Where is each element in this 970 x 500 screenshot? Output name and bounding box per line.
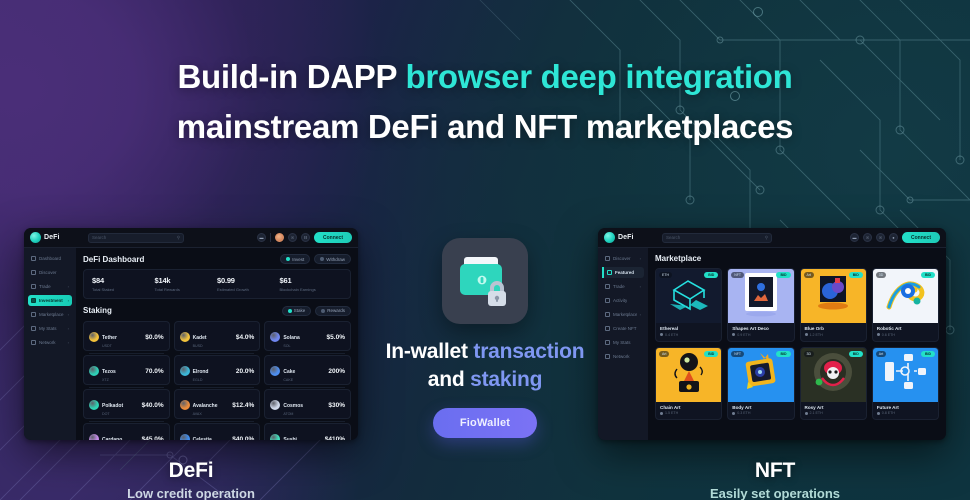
token-symbol: CAKE bbox=[283, 378, 295, 383]
nft-price-value: 2.1 ETH bbox=[810, 411, 823, 415]
center-headline: In-wallet transaction and staking bbox=[360, 338, 610, 394]
nft-title: Body Art bbox=[732, 405, 789, 410]
stat-label: Blockchain Earnings bbox=[280, 287, 343, 292]
defi-topbar-actions: ▬ ☉ ☷ Connect bbox=[257, 232, 352, 243]
nft-info: Ethereal0.4 ETH bbox=[656, 323, 721, 341]
nft-art-glyph bbox=[882, 352, 928, 397]
defi-search-input[interactable]: Search ⚲ bbox=[88, 233, 184, 243]
nft-price-value: 0.4 ETH bbox=[665, 333, 678, 337]
center-text-accent-2: staking bbox=[470, 368, 542, 391]
stat-card: $61Blockchain Earnings bbox=[280, 276, 343, 292]
defi-sidebar-item-dashboard[interactable]: Dashboard bbox=[28, 253, 72, 264]
nft-app-screenshot: DeFi Search ⚲ ▬ ☉ ☉ ● Connect Discover›F… bbox=[598, 228, 946, 440]
nft-bid-badge[interactable]: BID bbox=[849, 351, 863, 357]
token-symbol: EGLD bbox=[193, 378, 209, 383]
staking-card[interactable]: PolkadotDOT$40.0%$4 Staked$5 Rewards7d, … bbox=[83, 389, 170, 419]
token-icon bbox=[180, 400, 190, 410]
defi-brand-label: DeFi bbox=[44, 234, 60, 241]
nft-card[interactable]: 3DBIDRobotic Art0.6 ETH bbox=[872, 268, 939, 342]
nft-main: Marketplace ETHBIDEthereal0.4 ETHNFTBIDS… bbox=[648, 248, 946, 440]
sidebar-item-label: Marketplace bbox=[613, 312, 637, 317]
staking-grid: TetherUSDT$0.0%$27 Staked$4 Rewards7d, L… bbox=[83, 321, 351, 441]
chevron-right-icon: › bbox=[68, 298, 69, 303]
chevron-right-icon: › bbox=[640, 284, 641, 289]
staking-card[interactable]: KadetBUSD$4.0%$4 Staked$2 Rewards14d, Lo… bbox=[174, 321, 261, 351]
defi-sidebar-item-marketplace[interactable]: Marketplace› bbox=[28, 309, 72, 320]
nft-bid-badge[interactable]: BID bbox=[849, 272, 863, 278]
token-apy: $40.0% bbox=[232, 436, 254, 441]
defi-topbar: DeFi Search ⚲ ▬ ☉ ☷ Connect bbox=[24, 228, 358, 248]
stat-value: $61 bbox=[280, 276, 343, 285]
token-icon bbox=[89, 434, 99, 440]
defi-main: DeFi Dashboard InvestWithdraw $84Total S… bbox=[76, 248, 358, 440]
nft-marketplace-header: Marketplace bbox=[655, 254, 939, 263]
token-apy: $30% bbox=[328, 402, 345, 409]
defi-caption-title: DeFi bbox=[61, 458, 321, 484]
token-name: Sushi bbox=[283, 437, 297, 441]
chevron-right-icon: › bbox=[68, 340, 69, 345]
rewards-button[interactable]: Rewards bbox=[315, 306, 351, 316]
nft-art-glyph bbox=[671, 349, 707, 400]
nft-card[interactable]: ArtBIDFuture Art0.8 ETH bbox=[872, 347, 939, 421]
sidebar-item-label: Create NFT bbox=[613, 326, 637, 331]
chevron-right-icon: › bbox=[68, 284, 69, 289]
token-icon bbox=[180, 332, 190, 342]
nft-card-grid: ETHBIDEthereal0.4 ETHNFTBIDShapes Art De… bbox=[655, 268, 939, 420]
token-symbol: SOL bbox=[283, 344, 299, 349]
token-name: Celestia bbox=[193, 437, 212, 441]
nft-info: Robotic Art0.6 ETH bbox=[873, 323, 938, 341]
defi-sidebar-item-discover[interactable]: Discover bbox=[28, 267, 72, 278]
chevron-right-icon: › bbox=[640, 256, 641, 261]
nft-title: Ethereal bbox=[660, 326, 717, 331]
nft-price: 0.3 ETH bbox=[732, 411, 789, 415]
nft-price: 1.5 ETH bbox=[660, 411, 717, 415]
token-icon bbox=[180, 434, 190, 440]
user-icon[interactable]: ● bbox=[889, 233, 898, 242]
nft-category-tag: ETH bbox=[659, 272, 672, 278]
sidebar-item-label: Marketplace bbox=[39, 312, 64, 317]
nft-title: Robotic Art bbox=[877, 326, 934, 331]
globe-icon[interactable]: ☉ bbox=[863, 233, 872, 242]
token-apy: $4.0% bbox=[236, 334, 254, 341]
nft-topbar: DeFi Search ⚲ ▬ ☉ ☉ ● Connect bbox=[598, 228, 946, 248]
stat-card: $84Total Staked bbox=[92, 276, 155, 292]
search-icon: ⚲ bbox=[177, 235, 180, 241]
connect-button[interactable]: Connect bbox=[902, 232, 940, 243]
token-name: Cosmos bbox=[283, 403, 303, 409]
nft-price: 1.2 ETH bbox=[805, 333, 862, 337]
nft-artwork: ArtBID bbox=[801, 269, 866, 323]
stat-card: $0.99Estimated Growth bbox=[217, 276, 280, 292]
page-headline: Build-in DAPP browser deep integration m… bbox=[0, 52, 970, 152]
token-name: Cardano bbox=[102, 437, 122, 441]
search-icon: ⚲ bbox=[765, 235, 768, 241]
network-icon bbox=[31, 340, 36, 345]
center-text-accent-1: transaction bbox=[473, 340, 584, 363]
nft-info: Rosy Art2.1 ETH bbox=[801, 402, 866, 420]
nft-price-value: 1.5 ETH bbox=[665, 411, 678, 415]
nft-card[interactable]: ETHBIDEthereal0.4 ETH bbox=[655, 268, 722, 342]
token-name: Cake bbox=[283, 369, 295, 375]
nft-topbar-actions: ▬ ☉ ☉ ● Connect bbox=[850, 232, 940, 243]
token-icon bbox=[270, 366, 280, 376]
nft-bid-badge[interactable]: BID bbox=[921, 272, 935, 278]
nft-artwork: NFTBID bbox=[728, 269, 793, 323]
grid-icon[interactable]: ☷ bbox=[301, 233, 310, 242]
nft-info: Future Art0.8 ETH bbox=[873, 402, 938, 420]
staking-card[interactable]: TetherUSDT$0.0%$27 Staked$4 Rewards7d, L… bbox=[83, 321, 170, 351]
nft-caption-subtitle: Easily set operations bbox=[645, 486, 905, 500]
token-apy: $0.0% bbox=[145, 334, 163, 341]
nft-brand-label: DeFi bbox=[618, 234, 634, 241]
headline-text-accent-1: browser bbox=[405, 58, 540, 95]
nft-bid-badge[interactable]: BID bbox=[776, 272, 790, 278]
defi-caption-subtitle: Low credit operation bbox=[61, 486, 321, 500]
chevron-right-icon: › bbox=[68, 312, 69, 317]
nft-price: 0.9 ETH bbox=[732, 333, 789, 337]
nft-price-value: 0.8 ETH bbox=[882, 411, 895, 415]
nft-card[interactable]: ArtBIDChain Art1.5 ETH bbox=[655, 347, 722, 421]
token-name: Kadet bbox=[193, 335, 207, 341]
nft-card[interactable]: NFTBIDShapes Art Deco0.9 ETH bbox=[727, 268, 794, 342]
sidebar-item-label: Dashboard bbox=[39, 256, 61, 261]
nft-category-tag: NFT bbox=[731, 351, 744, 357]
button-label: Stake bbox=[294, 308, 306, 313]
stat-value: $84 bbox=[92, 276, 155, 285]
connect-button[interactable]: Connect bbox=[314, 232, 352, 243]
nft-brand: DeFi bbox=[604, 232, 656, 243]
button-label: Rewards bbox=[327, 308, 345, 313]
nft-artwork: 3DBID bbox=[801, 348, 866, 402]
nft-body: Discover›FeaturedTrade›ActivityMarketpla… bbox=[598, 248, 946, 440]
withdraw-button[interactable]: Withdraw bbox=[314, 254, 351, 264]
page-background: Build-in DAPP browser deep integration m… bbox=[0, 0, 970, 500]
nft-search-input[interactable]: Search ⚲ bbox=[662, 233, 772, 243]
nft-info: Shapes Art Deco0.9 ETH bbox=[728, 323, 793, 341]
headline-line2: mainstream DeFi and NFT marketplaces bbox=[0, 102, 970, 152]
token-apy: 70.0% bbox=[145, 368, 163, 375]
nft-card[interactable]: 3DBIDRosy Art2.1 ETH bbox=[800, 347, 867, 421]
token-icon bbox=[89, 332, 99, 342]
token-icon bbox=[270, 434, 280, 440]
nft-category-tag: 3D bbox=[804, 351, 814, 357]
token-name: Tezos bbox=[102, 369, 116, 375]
defi-body: DashboardDiscoverTrade›Investment›Market… bbox=[24, 248, 358, 440]
nft-price: 2.1 ETH bbox=[805, 411, 862, 415]
nft-bid-badge[interactable]: BID bbox=[921, 351, 935, 357]
nft-title: Shapes Art Deco bbox=[732, 326, 789, 331]
button-label: Withdraw bbox=[326, 257, 345, 262]
bell-icon[interactable]: ☉ bbox=[876, 233, 885, 242]
sidebar-item-label: My Stats bbox=[613, 340, 631, 345]
token-name: Elrond bbox=[193, 369, 209, 375]
nft-info: Blue Orb1.2 ETH bbox=[801, 323, 866, 341]
nft-category-tag: NFT bbox=[731, 272, 744, 278]
currency-icon bbox=[660, 412, 663, 415]
nft-price-value: 0.9 ETH bbox=[737, 333, 750, 337]
nft-category-tag: Art bbox=[876, 351, 886, 357]
stat-value: $0.99 bbox=[217, 276, 280, 285]
token-icon bbox=[89, 400, 99, 410]
nft-artwork: ArtBID bbox=[656, 348, 721, 402]
defi-staking-header: Staking StakeRewards bbox=[83, 306, 351, 316]
button-dot-icon bbox=[321, 309, 325, 313]
nft-artwork: NFTBID bbox=[728, 348, 793, 402]
nft-title: Chain Art bbox=[660, 405, 717, 410]
button-dot-icon bbox=[286, 257, 290, 261]
swap-icon bbox=[31, 284, 36, 289]
nft-art-glyph bbox=[743, 271, 779, 322]
token-icon bbox=[180, 366, 190, 376]
nft-price: 0.6 ETH bbox=[877, 333, 934, 337]
token-symbol: AVAX bbox=[193, 412, 218, 417]
stat-label: Estimated Growth bbox=[217, 287, 280, 292]
defi-brand: DeFi bbox=[30, 232, 82, 243]
token-symbol: ATOM bbox=[283, 412, 303, 417]
center-text-white-2: and bbox=[428, 368, 470, 391]
defi-sidebar-item-investment[interactable]: Investment› bbox=[28, 295, 72, 306]
nft-card[interactable]: NFTBIDBody Art0.3 ETH bbox=[727, 347, 794, 421]
defi-sidebar-item-trade[interactable]: Trade› bbox=[28, 281, 72, 292]
currency-icon bbox=[732, 412, 735, 415]
defi-header-buttons: InvestWithdraw bbox=[280, 254, 351, 264]
compass-icon bbox=[31, 270, 36, 275]
staking-title: Staking bbox=[83, 306, 112, 315]
sidebar-item-label: Discover bbox=[613, 256, 631, 261]
headline-text-accent-2: deep integration bbox=[541, 58, 793, 95]
token-icon bbox=[270, 400, 280, 410]
token-apy: $410% bbox=[325, 436, 345, 441]
token-apy: $45.0% bbox=[142, 436, 164, 441]
wallet-icon[interactable]: ▬ bbox=[850, 233, 859, 242]
stat-card: $14kTotal Rewards bbox=[155, 276, 218, 292]
defi-sidebar-item-my-stats[interactable]: My Stats› bbox=[28, 323, 72, 334]
nft-price-value: 0.6 ETH bbox=[882, 333, 895, 337]
nft-artwork: ETHBID bbox=[656, 269, 721, 323]
defi-app-screenshot: DeFi Search ⚲ ▬ ☉ ☷ Connect DashboardDis… bbox=[24, 228, 358, 440]
token-name: Tether bbox=[102, 335, 117, 341]
currency-icon bbox=[660, 333, 663, 336]
staking-card[interactable]: SolanaSOL$5.0%$7 Staked$3 Rewards30d, Lo… bbox=[264, 321, 351, 351]
nft-price-value: 0.3 ETH bbox=[737, 411, 750, 415]
nft-art-glyph bbox=[811, 351, 855, 398]
button-dot-icon bbox=[288, 309, 292, 313]
sidebar-item-label: Network bbox=[39, 340, 56, 345]
center-line1: In-wallet transaction bbox=[360, 338, 610, 366]
wallet-icon[interactable]: ▬ bbox=[257, 233, 266, 242]
nft-info: Chain Art1.5 ETH bbox=[656, 402, 721, 420]
staking-card[interactable]: TezosXTZ70.0%$3 Staked$4 Rewards14d, Loc… bbox=[83, 355, 170, 385]
nft-bid-badge[interactable]: BID bbox=[704, 351, 718, 357]
divider bbox=[270, 233, 271, 242]
token-symbol: DOT bbox=[102, 412, 123, 417]
token-apy: $12.4% bbox=[232, 402, 254, 409]
nft-bid-badge[interactable]: BID bbox=[704, 272, 718, 278]
staking-card[interactable]: CelestiaTIA$40.0%$5 Staked$4 Rewards60d,… bbox=[174, 423, 261, 441]
defi-search-placeholder: Search bbox=[92, 235, 106, 240]
defi-sidebar-item-network[interactable]: Network› bbox=[28, 337, 72, 348]
headline-line1: Build-in DAPP browser deep integration bbox=[177, 58, 792, 95]
sidebar-item-label: Trade bbox=[39, 284, 51, 289]
token-name: Avalanche bbox=[193, 403, 218, 409]
token-name: Polkadot bbox=[102, 403, 123, 409]
chart-icon bbox=[31, 326, 36, 331]
store-icon bbox=[31, 312, 36, 317]
currency-icon bbox=[877, 333, 880, 336]
avatar[interactable] bbox=[275, 233, 284, 242]
chevron-right-icon: › bbox=[68, 326, 69, 331]
button-dot-icon bbox=[320, 257, 324, 261]
stat-label: Total Staked bbox=[92, 287, 155, 292]
token-icon bbox=[89, 366, 99, 376]
staking-card[interactable]: ElrondEGLD20.0%$3 Staked$7 Rewards30d, L… bbox=[174, 355, 261, 385]
page-title: Marketplace bbox=[655, 254, 701, 263]
defi-stats-row: $84Total Staked$14kTotal Rewards$0.99Est… bbox=[83, 269, 351, 299]
stat-value: $14k bbox=[155, 276, 218, 285]
defi-dashboard-header: DeFi Dashboard InvestWithdraw bbox=[83, 254, 351, 264]
nft-bid-badge[interactable]: BID bbox=[776, 351, 790, 357]
defi-logo-icon bbox=[30, 232, 41, 243]
bell-icon[interactable]: ☉ bbox=[288, 233, 297, 242]
token-symbol: USDT bbox=[102, 344, 117, 349]
staking-card[interactable]: CardanoADA$45.0%$2 Staked$6 Rewards30d, … bbox=[83, 423, 170, 441]
token-apy: 200% bbox=[328, 368, 345, 375]
nft-category-tag: Art bbox=[804, 272, 814, 278]
coins-icon bbox=[31, 298, 36, 303]
token-apy: $40.0% bbox=[142, 402, 164, 409]
nft-caption-title: NFT bbox=[645, 458, 905, 484]
token-name: Solana bbox=[283, 335, 299, 341]
token-apy: 20.0% bbox=[236, 368, 254, 375]
nft-category-tag: 3D bbox=[876, 272, 886, 278]
nft-info: Body Art0.3 ETH bbox=[728, 402, 793, 420]
staking-card[interactable]: SushiSUSHI$410%$2 Staked$9 Rewards180d, … bbox=[264, 423, 351, 441]
nft-price-value: 1.2 ETH bbox=[810, 333, 823, 337]
defi-caption: DeFi Low credit operation bbox=[61, 458, 321, 500]
token-symbol: XTZ bbox=[102, 378, 116, 383]
nft-art-glyph bbox=[813, 272, 853, 321]
defi-sidebar: DashboardDiscoverTrade›Investment›Market… bbox=[24, 248, 76, 440]
nft-art-glyph bbox=[740, 351, 782, 398]
nft-search-placeholder: Search bbox=[666, 235, 680, 240]
sidebar-item-label: Investment bbox=[39, 298, 63, 303]
token-symbol: BUSD bbox=[193, 344, 207, 349]
nft-title: Blue Orb bbox=[805, 326, 862, 331]
nft-price: 0.8 ETH bbox=[877, 411, 934, 415]
nft-title: Future Art bbox=[877, 405, 934, 410]
sidebar-item-label: Discover bbox=[39, 270, 57, 275]
nft-title: Rosy Art bbox=[805, 405, 862, 410]
nft-card[interactable]: ArtBIDBlue Orb1.2 ETH bbox=[800, 268, 867, 342]
headline-text-white: Build-in DAPP bbox=[177, 58, 405, 95]
staking-card[interactable]: CakeCAKE200%$9 Staked$3 Rewards60d, Lock… bbox=[264, 355, 351, 385]
nft-art-glyph bbox=[883, 273, 927, 320]
sidebar-item-label: Activity bbox=[613, 298, 627, 303]
chevron-right-icon: › bbox=[640, 312, 641, 317]
stat-label: Total Rewards bbox=[155, 287, 218, 292]
wallet-lock-icon bbox=[442, 238, 528, 324]
dashboard-icon bbox=[31, 256, 36, 261]
currency-icon bbox=[732, 333, 735, 336]
sidebar-item-label: My Stats bbox=[39, 326, 57, 331]
fiowallet-button[interactable]: FioWallet bbox=[433, 408, 537, 438]
sidebar-item-label: Featured bbox=[615, 270, 634, 275]
token-apy: $5.0% bbox=[327, 334, 345, 341]
center-feature: In-wallet transaction and staking FioWal… bbox=[360, 238, 610, 438]
token-icon bbox=[270, 332, 280, 342]
invest-button[interactable]: Invest bbox=[280, 254, 310, 264]
wallet-lock-glyph bbox=[454, 253, 516, 309]
nft-price: 0.4 ETH bbox=[660, 333, 717, 337]
page-title: DeFi Dashboard bbox=[83, 255, 144, 264]
center-line2: and staking bbox=[360, 366, 610, 394]
currency-icon bbox=[877, 412, 880, 415]
currency-icon bbox=[805, 412, 808, 415]
center-text-white-1: In-wallet bbox=[386, 340, 474, 363]
stake-button[interactable]: Stake bbox=[282, 306, 312, 316]
nft-artwork: 3DBID bbox=[873, 269, 938, 323]
button-label: Invest bbox=[292, 257, 304, 262]
nft-artwork: ArtBID bbox=[873, 348, 938, 402]
nft-art-glyph bbox=[666, 274, 712, 319]
staking-card[interactable]: AvalancheAVAX$12.4%$1 Staked$2 Rewards30… bbox=[174, 389, 261, 419]
staking-buttons: StakeRewards bbox=[282, 306, 351, 316]
nft-caption: NFT Easily set operations bbox=[645, 458, 905, 500]
nft-category-tag: Art bbox=[659, 351, 669, 357]
currency-icon bbox=[805, 333, 808, 336]
sidebar-item-label: Network bbox=[613, 354, 630, 359]
staking-card[interactable]: CosmosATOM$30%$5 Staked$8 Rewards90d, Lo… bbox=[264, 389, 351, 419]
sidebar-item-label: Trade bbox=[613, 284, 625, 289]
